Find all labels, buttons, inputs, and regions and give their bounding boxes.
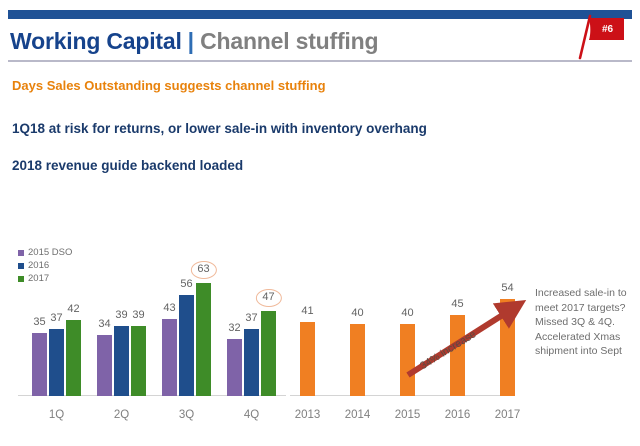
annotation-callout: Increased sale-in to meet 2017 targets? … xyxy=(535,286,640,359)
page-title-primary: Working Capital xyxy=(10,28,182,55)
bar-value-2q-2017: 39 xyxy=(132,309,144,321)
xlabel-2013: 2013 xyxy=(283,409,332,421)
bar-2q-2015: 34 xyxy=(97,335,112,396)
header-accent-bar xyxy=(8,10,632,19)
bar-2q-2016: 39 xyxy=(114,326,129,396)
bar-value-4q-2017-highlighted: 47 xyxy=(255,289,281,307)
bar-1q-2015: 35 xyxy=(32,333,47,396)
xlabel-4q: 4Q xyxy=(227,409,276,421)
bar-3q-2015: 43 xyxy=(162,319,177,396)
bar-group-1q: 35 37 42 xyxy=(32,320,81,396)
chart-area: 2015 DSO 2016 2017 35 37 xyxy=(0,200,640,446)
bar-1q-2016: 37 xyxy=(49,329,64,396)
bar-4q-2015: 32 xyxy=(227,339,242,396)
bar-2013: 41 xyxy=(300,322,315,396)
bar-value-2017: 54 xyxy=(501,282,513,294)
xlabel-2015: 2015 xyxy=(383,409,432,421)
bar-value-2014: 40 xyxy=(351,307,363,319)
page-title-separator: | xyxy=(188,28,194,55)
xlabel-2q: 2Q xyxy=(97,409,146,421)
bullet-line-1: 1Q18 at risk for returns, or lower sale-… xyxy=(12,121,427,136)
bar-3q-2016: 56 xyxy=(179,295,194,396)
slide-canvas: Working Capital | Channel stuffing #6 Da… xyxy=(0,0,640,446)
bar-group-2013: 41 xyxy=(300,322,315,396)
bar-value-1q-2017: 42 xyxy=(67,303,79,315)
bar-group-4q: 32 37 47 xyxy=(227,311,276,396)
bar-4q-2016: 37 xyxy=(244,329,259,396)
bar-value-4q-2015: 32 xyxy=(228,322,240,334)
bar-1q-2017: 42 xyxy=(66,320,81,396)
quarterly-dso-chart: 35 37 42 1Q 34 39 39 xyxy=(18,235,288,431)
bar-2q-2017: 39 xyxy=(131,326,146,396)
flag-badge: #6 xyxy=(572,14,632,60)
xlabel-1q: 1Q xyxy=(32,409,81,421)
bar-group-2014: 40 xyxy=(350,324,365,396)
bar-value-3q-2015: 43 xyxy=(163,302,175,314)
bar-2014: 40 xyxy=(350,324,365,396)
xlabel-2016: 2016 xyxy=(433,409,482,421)
flag-badge-label: #6 xyxy=(602,24,613,35)
xlabel-3q: 3Q xyxy=(162,409,211,421)
red-flag-icon xyxy=(572,14,632,60)
page-title: Working Capital | Channel stuffing xyxy=(10,24,550,58)
bar-group-2q: 34 39 39 xyxy=(97,326,146,396)
bar-value-3q-2017-highlighted: 63 xyxy=(190,261,216,279)
bar-value-1q-2016: 37 xyxy=(50,312,62,324)
bar-value-2q-2015: 34 xyxy=(98,318,110,330)
xlabel-2017: 2017 xyxy=(483,409,532,421)
xlabel-2014: 2014 xyxy=(333,409,382,421)
header-divider xyxy=(8,60,632,62)
bar-group-3q: 43 56 63 xyxy=(162,283,211,396)
bar-value-4q-2016: 37 xyxy=(245,312,257,324)
bar-4q-2017: 47 xyxy=(261,311,276,396)
bullet-line-2: 2018 revenue guide backend loaded xyxy=(12,158,243,173)
subheading: Days Sales Outstanding suggests channel … xyxy=(12,78,326,93)
bar-value-1q-2015: 35 xyxy=(33,316,45,328)
bar-value-2013: 41 xyxy=(301,305,313,317)
bar-3q-2017: 63 xyxy=(196,283,211,396)
bar-value-2q-2016: 39 xyxy=(115,309,127,321)
bar-value-3q-2016: 56 xyxy=(180,278,192,290)
page-title-secondary: Channel stuffing xyxy=(200,28,378,55)
